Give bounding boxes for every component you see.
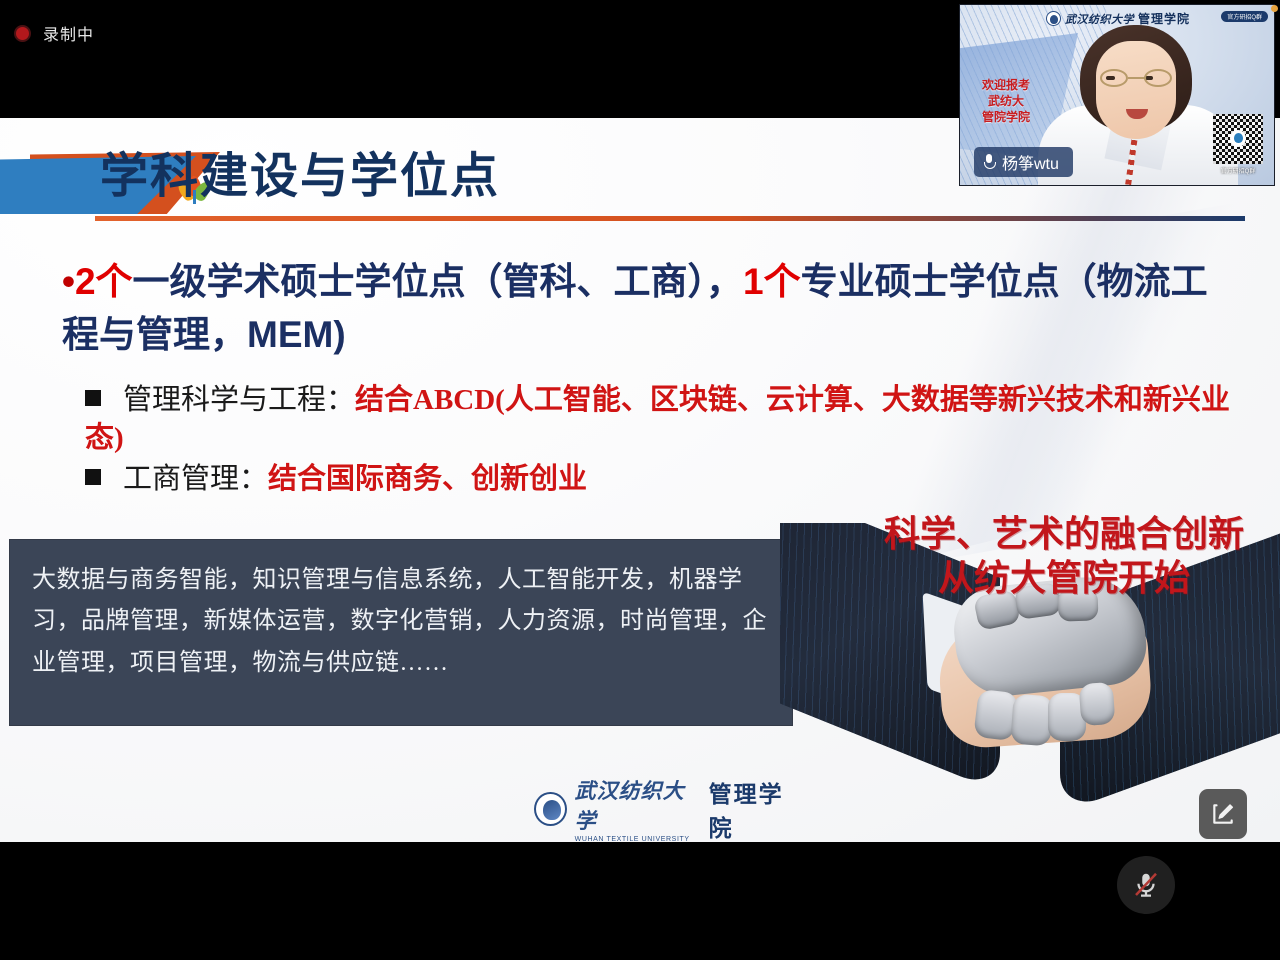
presenter-name: 杨筝wtu bbox=[1002, 150, 1059, 174]
bullet-marker: • bbox=[62, 261, 75, 302]
video-qr-code: 官方研招Q群 bbox=[1210, 114, 1266, 175]
robot-finger bbox=[1079, 682, 1116, 726]
welcome-line-3: 管院学院 bbox=[968, 109, 1044, 125]
page-title: 学科建设与学位点 bbox=[100, 146, 500, 208]
video-university-logo: 武汉纺织大学 管理学院 bbox=[1046, 10, 1190, 27]
footer-university-name-en: WUHAN TEXTILE UNIVERSITY bbox=[575, 836, 701, 842]
university-seal-icon bbox=[1046, 11, 1061, 26]
university-seal-icon bbox=[534, 792, 567, 826]
sub-bullet-list: 管理科学与工程：结合ABCD(人工智能、区块链、云计算、大数据等新兴技术和新兴业… bbox=[85, 381, 1250, 500]
glasses-icon bbox=[1098, 69, 1174, 89]
slogan-text: 科学、艺术的融合创新 从纺大管院开始 bbox=[860, 513, 1268, 601]
welcome-line-1: 欢迎报考 bbox=[968, 77, 1044, 93]
recording-dot-icon bbox=[14, 25, 31, 42]
bullet-text-1: 一级学术硕士学位点（管科、工商）， bbox=[133, 261, 744, 302]
pencil-annotate-icon bbox=[1210, 801, 1236, 827]
main-bullet: •2个一级学术硕士学位点（管科、工商），1个专业硕士学位点（物流工程与管理，ME… bbox=[62, 256, 1242, 361]
video-school-name: 管理学院 bbox=[1138, 10, 1190, 27]
sub-red-2: 结合国际商务、创新创业 bbox=[268, 463, 587, 495]
bullet-count-2: 1个 bbox=[743, 261, 801, 302]
footer-school-name: 管理学院 bbox=[709, 775, 804, 842]
tile-status-dot-icon bbox=[1271, 5, 1278, 12]
list-item: 工商管理：结合国际商务、创新创业 bbox=[85, 460, 1250, 498]
presenter-face bbox=[1096, 41, 1176, 139]
slogan-line-2: 从纺大管院开始 bbox=[860, 557, 1268, 601]
recording-label: 录制中 bbox=[43, 21, 94, 45]
presenter-head bbox=[1072, 17, 1202, 185]
slogan-line-1: 科学、艺术的融合创新 bbox=[860, 513, 1268, 557]
video-qr-pill-label: 官方研招Q群 bbox=[1221, 11, 1268, 22]
mute-toggle-button[interactable] bbox=[1117, 856, 1175, 914]
microphone-icon bbox=[984, 154, 994, 170]
video-qr-caption: 官方研招Q群 bbox=[1210, 166, 1266, 175]
annotate-button[interactable] bbox=[1199, 789, 1247, 839]
bullet-count-1: 2个 bbox=[75, 261, 133, 302]
square-bullet-icon bbox=[85, 469, 101, 485]
microphone-muted-icon bbox=[1131, 870, 1161, 900]
meeting-screen: 录制中 武汉纺织大学 管理学院 欢迎报考 武纺大 管院学院 官方研招Q群 bbox=[0, 0, 1280, 960]
video-welcome-banner: 欢迎报考 武纺大 管院学院 bbox=[968, 77, 1044, 126]
callout-box: 大数据与商务智能，知识管理与信息系统，人工智能开发，机器学习，品牌管理，新媒体运… bbox=[10, 540, 792, 725]
welcome-line-2: 武纺大 bbox=[968, 93, 1044, 109]
list-item: 管理科学与工程：结合ABCD(人工智能、区块链、云计算、大数据等新兴技术和新兴业… bbox=[85, 381, 1250, 458]
presentation-slide: 学科建设与学位点 •2个一级学术硕士学位点（管科、工商），1个专业硕士学位点（物… bbox=[0, 118, 1280, 842]
video-university-name: 武汉纺织大学 bbox=[1065, 11, 1134, 27]
footer-university-name: 武汉纺织大学 bbox=[575, 779, 685, 833]
sub-label-1: 管理科学与工程： bbox=[123, 384, 355, 416]
presenter-name-tag: 杨筝wtu bbox=[974, 147, 1073, 177]
square-bullet-icon bbox=[85, 390, 101, 406]
presenter-video-tile[interactable]: 武汉纺织大学 管理学院 欢迎报考 武纺大 管院学院 官方研招Q群 官方研招Q群 … bbox=[960, 5, 1274, 185]
footer-university-logo: 武汉纺织大学 WUHAN TEXTILE UNIVERSITY 管理学院 bbox=[534, 788, 804, 830]
sub-label-2: 工商管理： bbox=[123, 463, 268, 495]
callout-text: 大数据与商务智能，知识管理与信息系统，人工智能开发，机器学习，品牌管理，新媒体运… bbox=[10, 540, 792, 684]
title-underline bbox=[95, 216, 1245, 221]
